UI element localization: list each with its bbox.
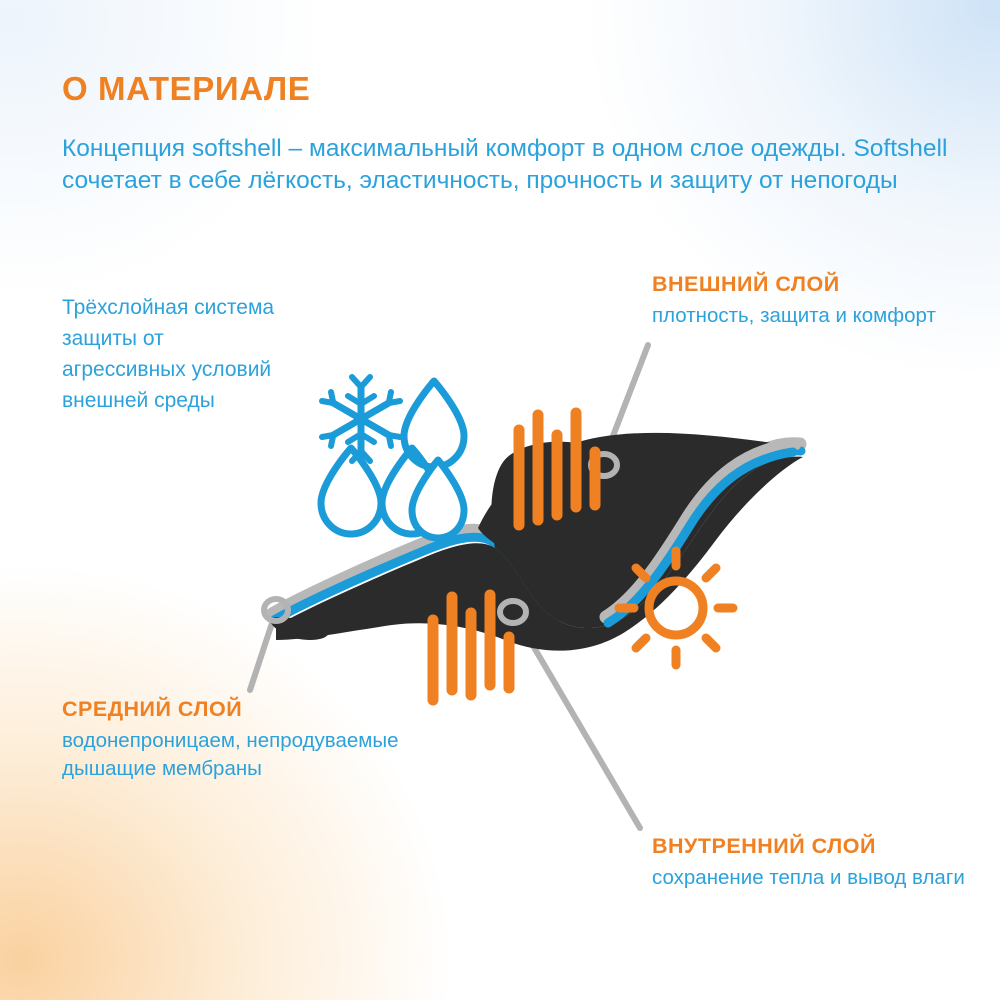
sun-icon — [619, 551, 733, 665]
callout-outer-body: плотность, защита и комфорт — [652, 302, 972, 330]
callout-inner-layer: ВНУТРЕННИЙ СЛОЙ сохранение тепла и вывод… — [652, 834, 982, 892]
infographic-canvas: О МАТЕРИАЛЕ Концепция softshell – максим… — [0, 0, 1000, 1000]
page-title: О МАТЕРИАЛЕ — [62, 70, 310, 108]
callout-outer-layer: ВНЕШНИЙ СЛОЙ плотность, защита и комфорт — [652, 272, 972, 330]
intro-paragraph: Концепция softshell – максимальный комфо… — [62, 133, 952, 197]
callout-middle-body: водонепроницаем, непродуваемые дышащие м… — [62, 727, 462, 783]
callout-middle-title: СРЕДНИЙ СЛОЙ — [62, 697, 462, 722]
three-layer-system-note: Трёхслойная система защиты от агрессивны… — [62, 292, 277, 416]
snowflake-icon — [322, 377, 400, 461]
callout-outer-title: ВНЕШНИЙ СЛОЙ — [652, 272, 972, 297]
callout-inner-title: ВНУТРЕННИЙ СЛОЙ — [652, 834, 982, 859]
callout-middle-layer: СРЕДНИЙ СЛОЙ водонепроницаем, непродувае… — [62, 697, 462, 783]
water-droplet-icon-4 — [412, 460, 464, 538]
callout-inner-body: сохранение тепла и вывод влаги — [652, 864, 982, 892]
